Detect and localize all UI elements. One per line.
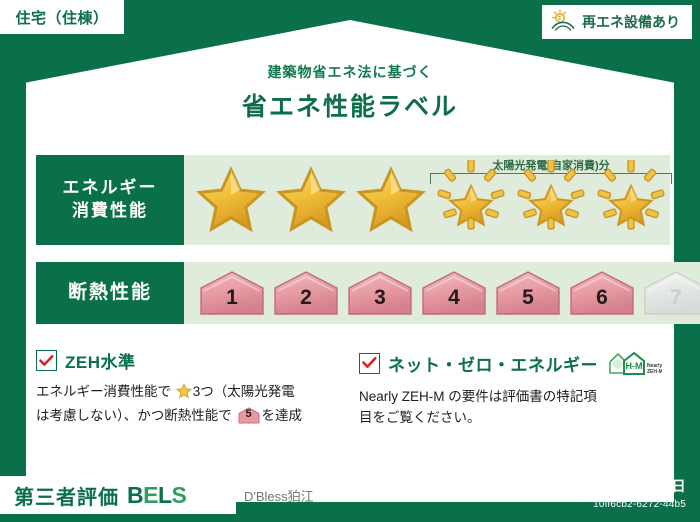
star-icon: [192, 157, 270, 243]
building-name: D'Bless狛江: [244, 476, 314, 514]
bels-footer-badge: 第三者評価 BELS: [0, 476, 236, 514]
insulation-grade-badge-1: 1: [198, 270, 266, 316]
claim-zeh-body: エネルギー消費性能で 3つ（太陽光発電 は考慮しない）、かつ断熱性能で 5 を達…: [36, 382, 341, 427]
bels-logo: BELS: [127, 482, 186, 509]
zeh-body-part1: エネルギー消費性能で: [36, 384, 171, 399]
energy-stars-panel: 太陽光発電(自家消費)分: [184, 155, 670, 245]
renewable-badge-label: 再エネ設備あり: [582, 12, 680, 32]
grade-number: 4: [448, 286, 460, 316]
nze-body-line2: 目をご覧ください。: [359, 410, 481, 425]
title-subtitle: 建築物省エネ法に基づく: [0, 62, 700, 82]
insulation-grade-badge-2: 2: [272, 270, 340, 316]
evaluation-date-value: 2025年9月24日: [586, 478, 686, 494]
insulation-grade-panel: 1 2 3: [184, 262, 700, 324]
zeh-body-part2: 3つ（太陽光発電: [193, 384, 295, 399]
insulation-performance-label: 断熱性能: [36, 262, 184, 324]
third-party-label: 第三者評価: [14, 481, 119, 510]
energy-performance-label: エネルギー 消費性能: [36, 155, 184, 245]
renewable-equipment-badge: 再エネ設備あり: [542, 5, 692, 39]
solar-sun-icon: [550, 8, 576, 37]
nze-body-line1: Nearly ZEH-M の要件は評価書の特記項: [359, 389, 597, 404]
claim-nze-title: ネット・ゼロ・エネルギー: [388, 351, 598, 376]
insulation-grade-badge-5: 5: [494, 270, 562, 316]
star-icon: [272, 157, 350, 243]
zeh-body-part3: は考慮しない）、かつ断熱性能で: [36, 408, 232, 423]
grade-number: 7: [670, 286, 682, 316]
category-tag: 住宅（住棟）: [0, 0, 124, 34]
grade-number: 1: [226, 286, 238, 316]
evaluation-info: 評価日 2025年9月24日 10ff6cb2-6272-44b5: [539, 476, 686, 510]
claim-nze-body: Nearly ZEH-M の要件は評価書の特記項 目をご覧ください。: [359, 387, 664, 429]
insulation-grade-badge-7: 7: [642, 270, 700, 316]
energy-label-line1: エネルギー: [63, 177, 158, 200]
claim-zeh-header: ZEH水準: [36, 348, 341, 373]
net-zero-checkbox[interactable]: [359, 353, 380, 374]
grade-number: 5: [522, 286, 534, 316]
grade-number: 3: [374, 286, 386, 316]
title-block: 建築物省エネ法に基づく 省エネ性能ラベル: [0, 62, 700, 123]
grade-number: 2: [300, 286, 312, 316]
zeh-body-part4: を達成: [262, 408, 303, 423]
inline-badge-number: 5: [238, 407, 260, 424]
category-tag-label: 住宅（住棟）: [15, 7, 108, 28]
star-icon-solar: [432, 157, 510, 243]
insulation-grade-badge-4: 4: [420, 270, 488, 316]
energy-performance-label: 住宅（住棟） 再エネ設備あり 建築物省エネ法に基づく 省エネ性能ラベル: [0, 0, 700, 522]
energy-label-line2: 消費性能: [72, 200, 148, 223]
star-icon: [352, 157, 430, 243]
page-title: 省エネ性能ラベル: [0, 87, 700, 123]
svg-text:ZEH-M: ZEH-M: [647, 369, 662, 375]
zeh-checkbox[interactable]: [36, 350, 57, 371]
svg-text:H-M: H-M: [626, 361, 643, 371]
evaluation-date: 評価日 2025年9月24日: [539, 476, 686, 496]
insulation-performance-row: 断熱性能 1 2: [36, 262, 666, 324]
claim-net-zero-energy: ネット・ゼロ・エネルギー H-M Nearly ZEH-M Nearly ZEH…: [359, 348, 664, 429]
claim-nze-header: ネット・ゼロ・エネルギー H-M Nearly ZEH-M: [359, 348, 664, 378]
claim-zeh-standard: ZEH水準 エネルギー消費性能で 3つ（太陽光発電 は考慮しない）、かつ断熱性能…: [36, 348, 341, 429]
evaluation-date-label: 評価日: [539, 478, 582, 494]
claim-zeh-title: ZEH水準: [65, 348, 136, 373]
nearly-zeh-m-icon: H-M Nearly ZEH-M: [606, 348, 662, 378]
evaluation-id: 10ff6cb2-6272-44b5: [539, 499, 686, 510]
claims-section: ZEH水準 エネルギー消費性能で 3つ（太陽光発電 は考慮しない）、かつ断熱性能…: [36, 348, 668, 429]
insulation-grade-badge-3: 3: [346, 270, 414, 316]
insulation-label-text: 断熱性能: [68, 280, 152, 306]
insulation-grade-badge-inline: 5: [238, 407, 260, 424]
energy-performance-row: エネルギー 消費性能 太陽光発電(自家消費)分: [36, 155, 666, 245]
star-icon-solar: [592, 157, 670, 243]
grade-number: 6: [596, 286, 608, 316]
star-icon-solar: [512, 157, 590, 243]
star-icon: [176, 383, 192, 406]
insulation-grade-badge-6: 6: [568, 270, 636, 316]
